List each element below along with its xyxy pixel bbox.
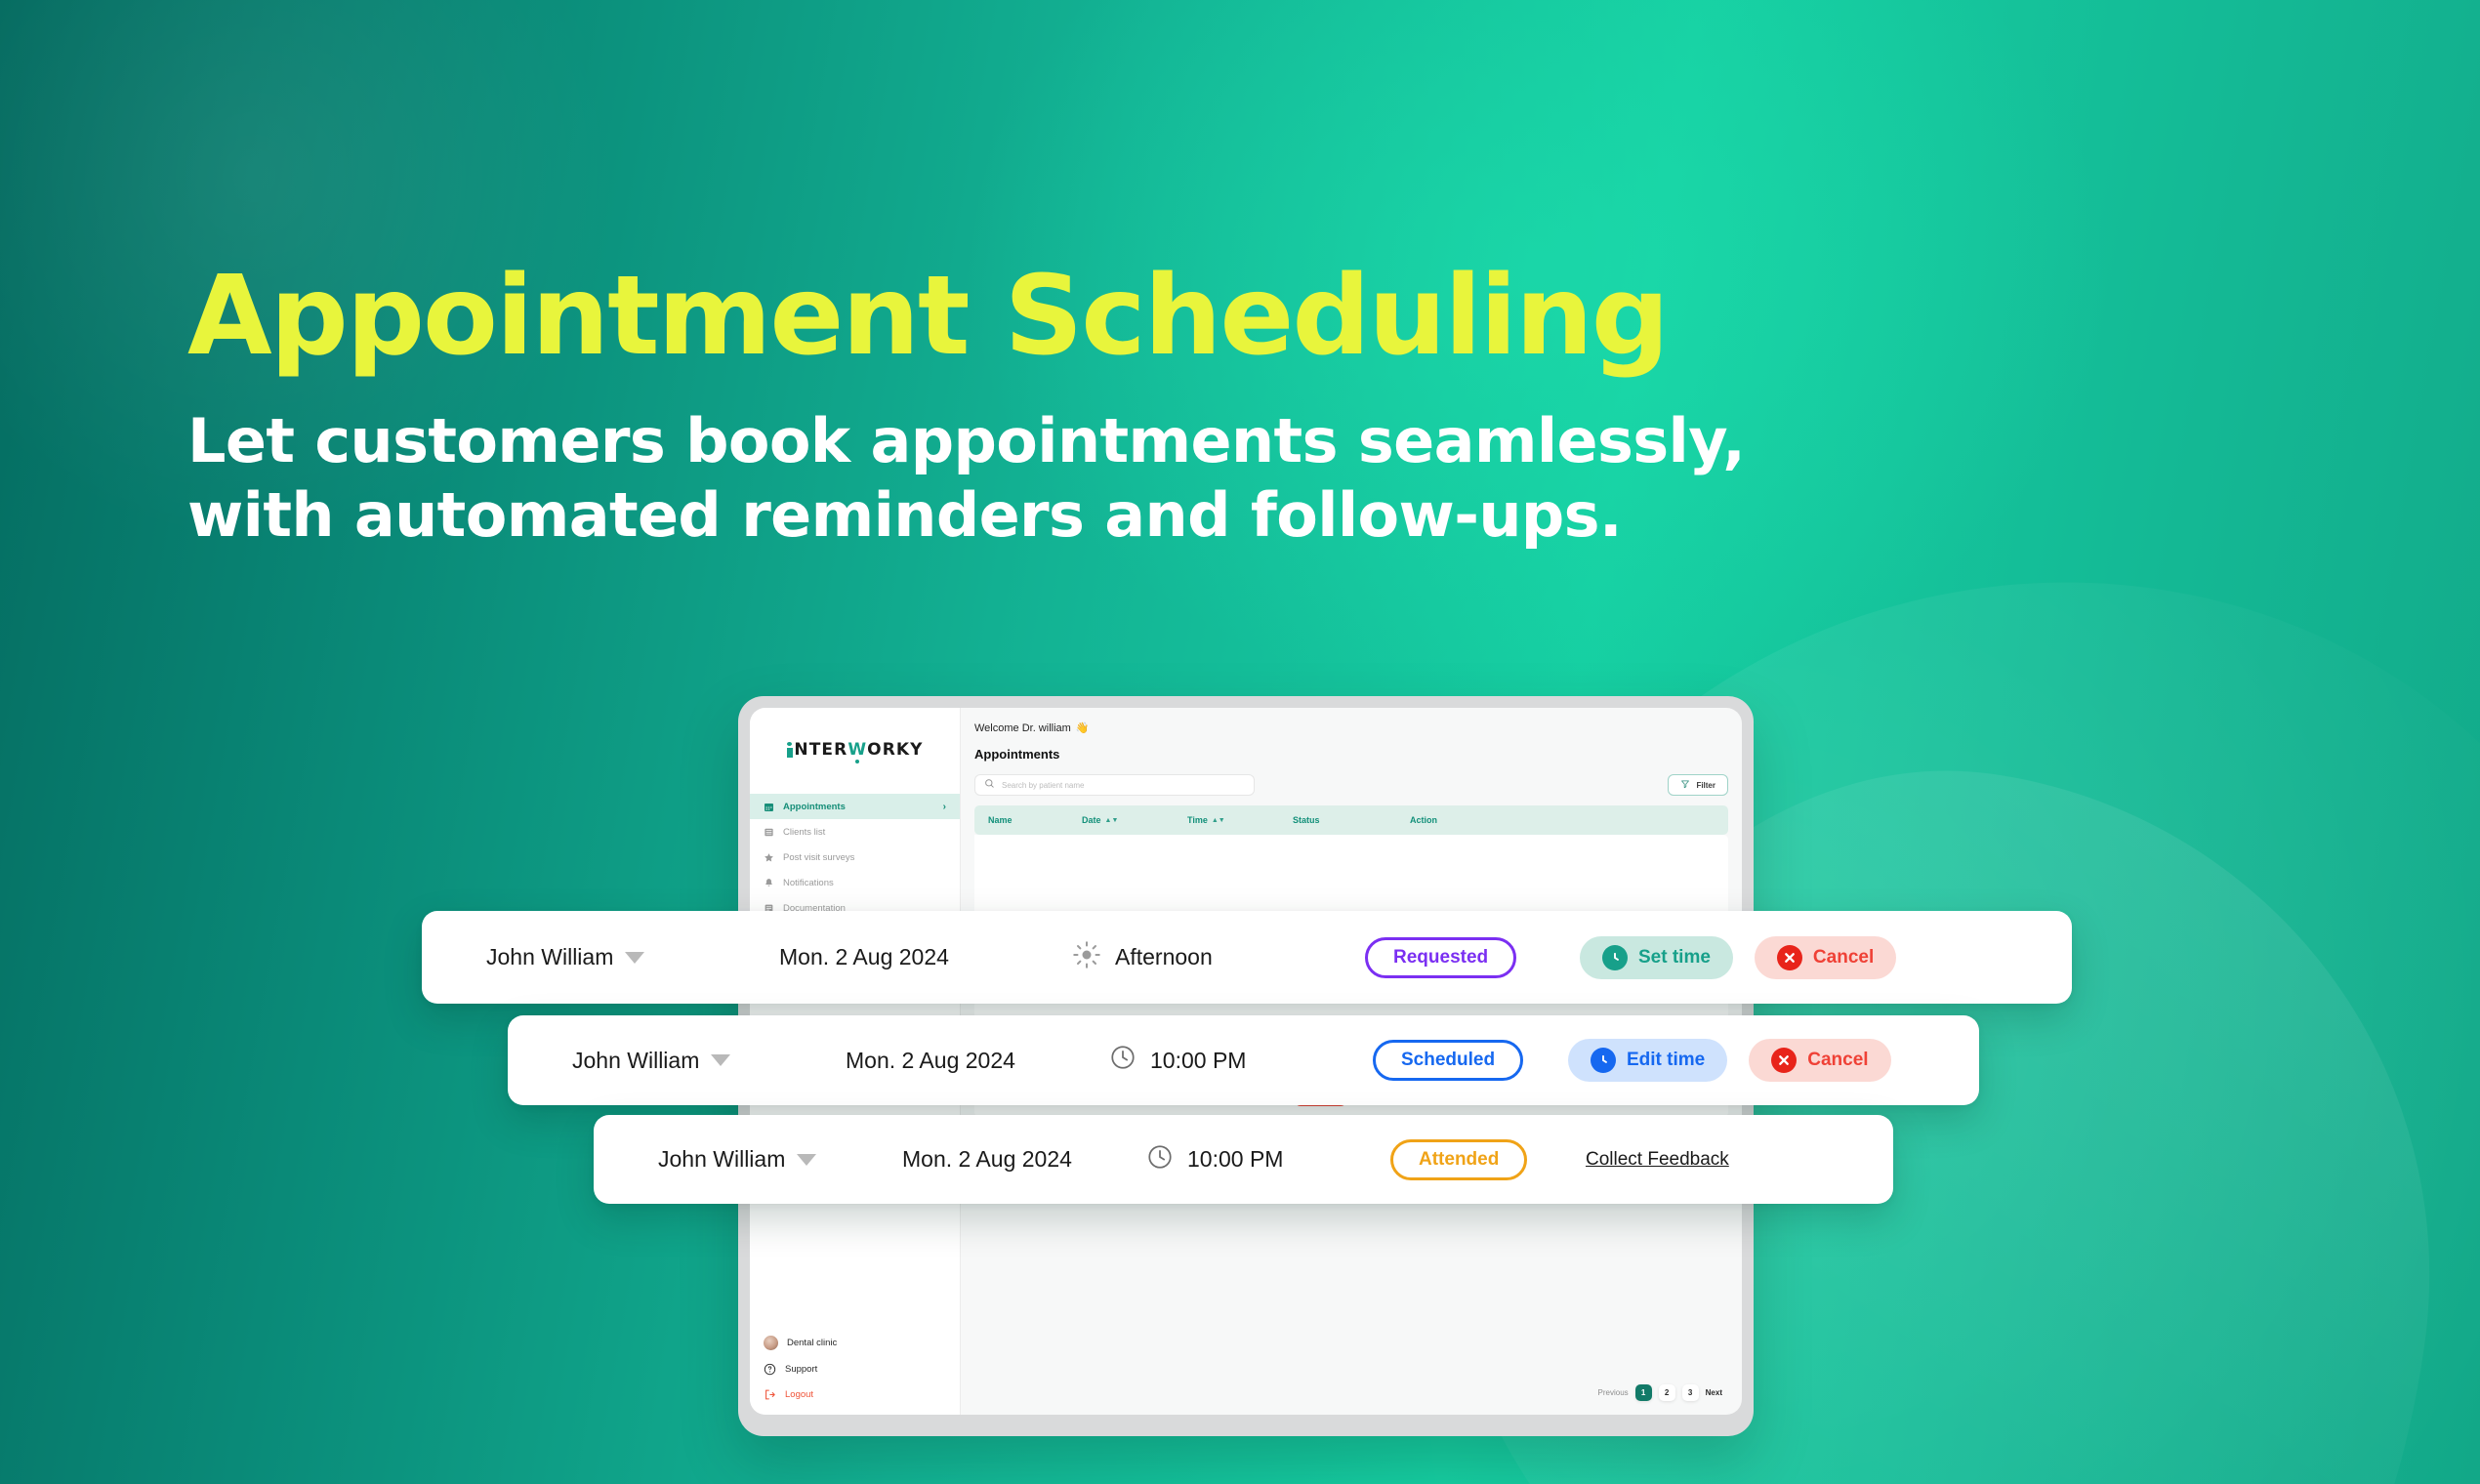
column-label: Name	[988, 815, 1013, 825]
patient-name-label: John William	[658, 1146, 785, 1173]
sidebar-footer-label: Logout	[785, 1389, 813, 1400]
sidebar-item-notifications[interactable]: Notifications	[750, 870, 960, 895]
table-header-row: Name Date▲▼ Time▲▼ Status Action	[974, 805, 1728, 835]
pagination: Previous 1 2 3 Next	[974, 1373, 1728, 1415]
filter-label: Filter	[1696, 781, 1715, 790]
action-buttons: Edit time Cancel	[1568, 1039, 1891, 1082]
previous-button[interactable]: Previous	[1598, 1388, 1629, 1397]
patient-name[interactable]: John William	[658, 1146, 902, 1173]
page-title: Appointments	[974, 747, 1728, 762]
patient-name[interactable]: John William	[572, 1048, 846, 1074]
x-circle-icon	[1771, 1048, 1797, 1073]
sidebar-item-dental-clinic[interactable]: Dental clinic	[764, 1336, 946, 1350]
sidebar-item-label: Notifications	[783, 878, 834, 888]
sidebar-item-logout[interactable]: Logout	[764, 1388, 946, 1401]
hero-subtitle: Let customers book appointments seamless…	[187, 404, 2043, 552]
appointment-card-requested[interactable]: John William Mon. 2 Aug 2024 Afternoon R…	[422, 911, 2072, 1004]
column-header-status: Status	[1293, 805, 1410, 835]
appointment-card-attended[interactable]: John William Mon. 2 Aug 2024 10:00 PM At…	[594, 1115, 1893, 1204]
status-container: Requested	[1365, 937, 1580, 978]
logo-text-part1: NTER	[794, 740, 847, 760]
hero-subtitle-line-1: Let customers book appointments seamless…	[187, 404, 2043, 478]
logo-text-part2: ORKY	[867, 740, 923, 760]
sidebar-item-clients-list[interactable]: Clients list	[750, 819, 960, 845]
star-icon	[764, 852, 774, 863]
collect-feedback-link-container: Collect Feedback	[1586, 1149, 1729, 1171]
column-label: Time	[1187, 815, 1208, 825]
column-header-action: Action	[1410, 805, 1728, 835]
sun-icon	[1072, 940, 1101, 975]
promo-banner: Appointment Scheduling Let customers boo…	[0, 0, 2480, 1484]
status-container: Attended	[1390, 1139, 1586, 1180]
avatar	[764, 1336, 778, 1350]
patient-name-label: John William	[486, 944, 613, 970]
page-button-2[interactable]: 2	[1659, 1384, 1675, 1401]
filter-button[interactable]: Filter	[1668, 774, 1728, 796]
list-icon	[764, 827, 774, 838]
edit-time-button[interactable]: Edit time	[1568, 1039, 1727, 1082]
time-label: 10:00 PM	[1150, 1048, 1246, 1074]
set-time-button[interactable]: Set time	[1580, 936, 1733, 979]
interworky-logo: NTERWORKY	[786, 740, 923, 760]
sidebar-footer-label: Support	[785, 1364, 817, 1375]
table-header: Name Date▲▼ Time▲▼ Status Action	[974, 805, 1728, 835]
action-buttons: Set time Cancel	[1580, 936, 1896, 979]
search-icon	[984, 776, 995, 794]
column-header-date[interactable]: Date▲▼	[1082, 805, 1187, 835]
calendar-icon	[764, 802, 774, 812]
column-label: Status	[1293, 815, 1320, 825]
collect-feedback-link[interactable]: Collect Feedback	[1586, 1149, 1729, 1170]
clock-icon	[1109, 1044, 1137, 1077]
help-icon	[764, 1363, 776, 1376]
logo-i-icon	[786, 742, 793, 758]
appointment-time: 10:00 PM	[1109, 1044, 1373, 1077]
chevron-right-icon: ›	[943, 802, 946, 812]
clock-icon	[1591, 1048, 1616, 1073]
hero-subtitle-line-2: with automated reminders and follow-ups.	[187, 478, 2043, 553]
cancel-button[interactable]: Cancel	[1755, 936, 1896, 979]
status-badge: Attended	[1390, 1139, 1527, 1180]
x-circle-icon	[1777, 945, 1802, 970]
logout-icon	[764, 1388, 776, 1401]
set-time-label: Set time	[1638, 947, 1711, 969]
appointment-card-scheduled[interactable]: John William Mon. 2 Aug 2024 10:00 PM Sc…	[508, 1015, 1979, 1105]
sidebar-item-support[interactable]: Support	[764, 1363, 946, 1376]
cancel-label: Cancel	[1813, 947, 1874, 969]
page-button-3[interactable]: 3	[1682, 1384, 1699, 1401]
sidebar-item-label: Post visit surveys	[783, 852, 854, 863]
time-label: Afternoon	[1115, 944, 1213, 970]
time-label: 10:00 PM	[1187, 1146, 1283, 1173]
appointment-date: Mon. 2 Aug 2024	[846, 1048, 1109, 1074]
status-badge: Requested	[1365, 937, 1516, 978]
sort-icon[interactable]: ▲▼	[1212, 817, 1225, 824]
column-label: Date	[1082, 815, 1101, 825]
chevron-down-icon[interactable]	[797, 1154, 816, 1166]
status-container: Scheduled	[1373, 1040, 1568, 1081]
appointment-date: Mon. 2 Aug 2024	[779, 944, 1072, 970]
chevron-down-icon[interactable]	[711, 1054, 730, 1066]
patient-name[interactable]: John William	[486, 944, 779, 970]
welcome-text: Welcome Dr. william	[974, 722, 1071, 734]
column-label: Action	[1410, 815, 1437, 825]
filter-icon	[1680, 779, 1690, 791]
next-button[interactable]: Next	[1706, 1388, 1722, 1397]
page-button-1[interactable]: 1	[1635, 1384, 1652, 1401]
toolbar: Search by patient name Filter	[974, 774, 1728, 796]
logo-w-mark: W	[847, 740, 867, 760]
appointment-time: Afternoon	[1072, 940, 1365, 975]
clock-icon	[1602, 945, 1628, 970]
sidebar-item-post-visit-surveys[interactable]: Post visit surveys	[750, 845, 960, 870]
sidebar-footer-label: Dental clinic	[787, 1338, 837, 1348]
column-header-name: Name	[974, 805, 1082, 835]
search-input[interactable]: Search by patient name	[974, 774, 1255, 796]
status-badge: Scheduled	[1373, 1040, 1523, 1081]
sidebar-item-appointments[interactable]: Appointments ›	[750, 794, 960, 819]
edit-time-label: Edit time	[1627, 1050, 1705, 1071]
hero-title: Appointment Scheduling	[187, 262, 2043, 371]
clock-icon	[1146, 1143, 1174, 1176]
cancel-button[interactable]: Cancel	[1749, 1039, 1890, 1082]
chevron-down-icon[interactable]	[625, 952, 644, 964]
logo-container: NTERWORKY	[750, 708, 960, 792]
sidebar-item-label: Clients list	[783, 827, 825, 838]
cancel-label: Cancel	[1807, 1050, 1868, 1071]
search-placeholder: Search by patient name	[1002, 781, 1085, 790]
hero-text-block: Appointment Scheduling Let customers boo…	[187, 262, 2043, 552]
waving-hand-icon: 👋	[1076, 721, 1090, 734]
patient-name-label: John William	[572, 1048, 699, 1074]
column-header-time[interactable]: Time▲▼	[1187, 805, 1293, 835]
appointment-date: Mon. 2 Aug 2024	[902, 1146, 1146, 1173]
appointment-time: 10:00 PM	[1146, 1143, 1390, 1176]
sidebar-nav: Appointments › Clients list Post visit	[750, 792, 960, 921]
sidebar-item-label: Appointments	[783, 802, 846, 812]
sort-icon[interactable]: ▲▼	[1105, 817, 1119, 824]
welcome-message: Welcome Dr. william 👋	[974, 721, 1728, 734]
sidebar-footer: Dental clinic Support Logout	[750, 1336, 960, 1415]
bell-icon	[764, 878, 774, 888]
